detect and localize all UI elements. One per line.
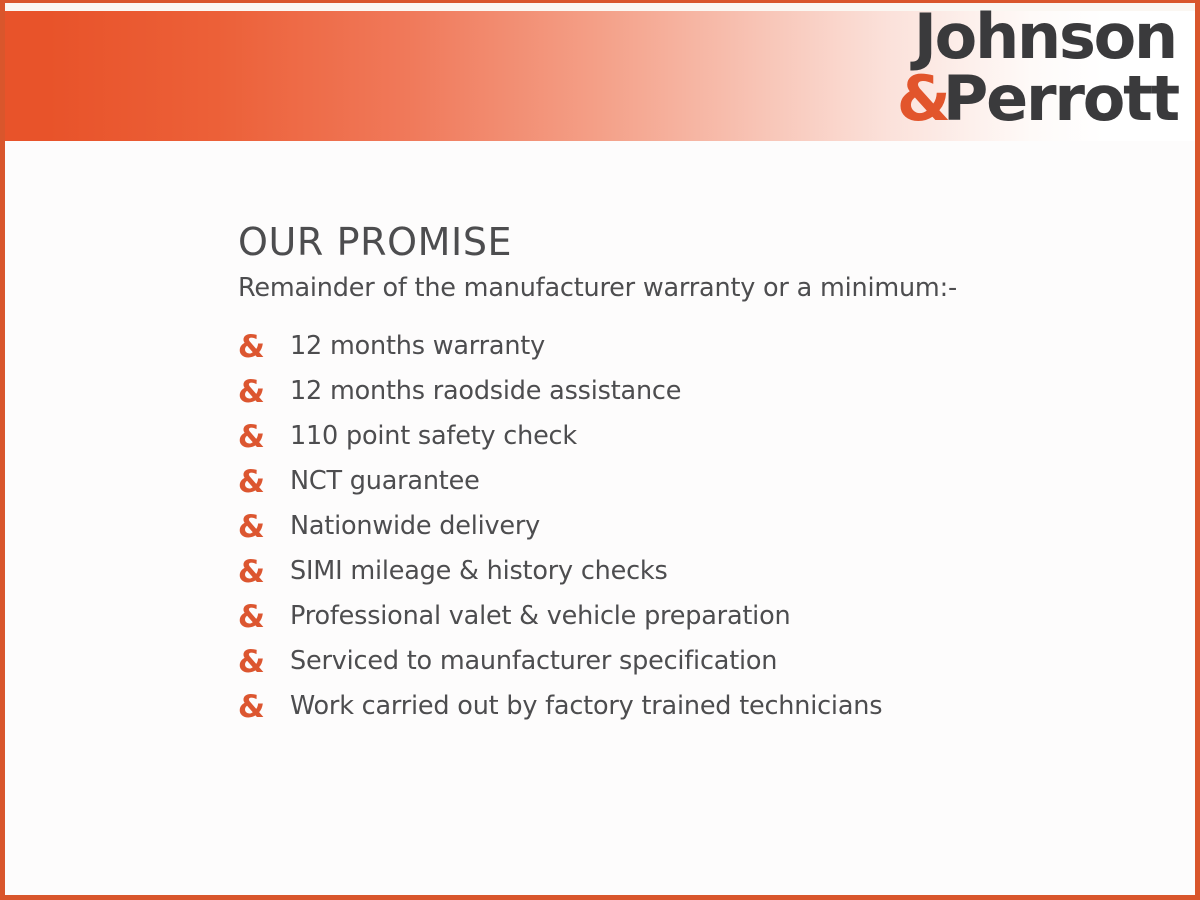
brand-logo-line-johnson: Johnson xyxy=(897,8,1178,66)
ampersand-bullet-icon: & xyxy=(237,557,290,588)
promise-slide: Johnson &Perrott OUR PROMISE Remainder o… xyxy=(0,0,1200,900)
ampersand-bullet-icon: & xyxy=(237,512,290,543)
ampersand-icon: & xyxy=(897,62,945,135)
list-item-label: SIMI mileage & history checks xyxy=(290,556,668,588)
ampersand-bullet-icon: & xyxy=(237,602,290,633)
list-item-label: Nationwide delivery xyxy=(290,511,540,543)
list-item: & 12 months warranty xyxy=(238,329,1138,365)
list-item-label: Serviced to maunfacturer specification xyxy=(290,646,777,678)
list-item-label: Work carried out by factory trained tech… xyxy=(290,691,882,723)
list-item: & Work carried out by factory trained te… xyxy=(238,689,1138,725)
brand-logo-perrott-text: Perrott xyxy=(943,62,1178,135)
list-item: & 12 months raodside assistance xyxy=(238,374,1138,410)
list-item-label: 12 months warranty xyxy=(290,331,545,363)
list-item: & 110 point safety check xyxy=(238,419,1138,455)
list-item-label: NCT guarantee xyxy=(290,466,480,498)
promise-list: & 12 months warranty & 12 months raodsid… xyxy=(238,329,1138,725)
ampersand-bullet-icon: & xyxy=(237,647,290,678)
content-panel: OUR PROMISE Remainder of the manufacture… xyxy=(5,141,1195,895)
content-inner: OUR PROMISE Remainder of the manufacture… xyxy=(238,221,1138,734)
brand-logo: Johnson &Perrott xyxy=(897,8,1178,127)
ampersand-bullet-icon: & xyxy=(237,467,290,498)
ampersand-bullet-icon: & xyxy=(237,332,290,363)
list-item: & Serviced to maunfacturer specification xyxy=(238,644,1138,680)
list-item: & NCT guarantee xyxy=(238,464,1138,500)
list-item-label: Professional valet & vehicle preparation xyxy=(290,601,790,633)
brand-logo-line-perrott: &Perrott xyxy=(897,70,1178,128)
ampersand-bullet-icon: & xyxy=(237,692,290,723)
ampersand-bullet-icon: & xyxy=(237,377,290,408)
list-item: & Professional valet & vehicle preparati… xyxy=(238,599,1138,635)
page-subtitle: Remainder of the manufacturer warranty o… xyxy=(238,273,1138,304)
list-item: & Nationwide delivery xyxy=(238,509,1138,545)
page-title: OUR PROMISE xyxy=(238,221,1138,265)
list-item-label: 110 point safety check xyxy=(290,421,577,453)
list-item-label: 12 months raodside assistance xyxy=(290,376,681,408)
list-item: & SIMI mileage & history checks xyxy=(238,554,1138,590)
ampersand-bullet-icon: & xyxy=(237,422,290,453)
